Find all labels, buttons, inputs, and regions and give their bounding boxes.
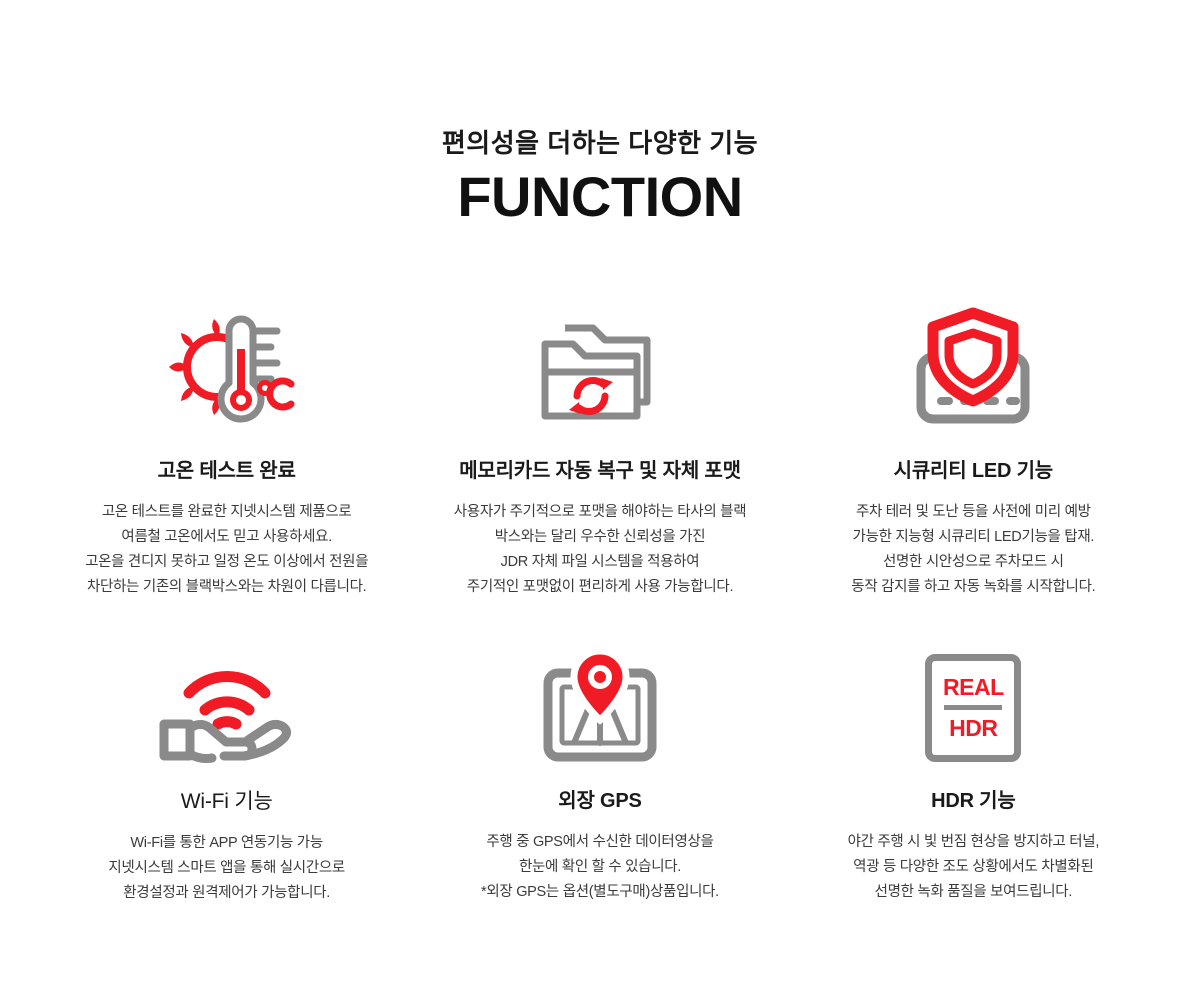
page-header: 편의성을 더하는 다양한 기능 FUNCTION <box>0 0 1200 230</box>
shield-led-icon <box>903 300 1043 440</box>
feature-card-hdr: REAL HDR HDR 기능 야간 주행 시 빛 번짐 현상을 방지하고 터널… <box>787 645 1160 965</box>
feature-title: HDR 기능 <box>931 788 1016 814</box>
function-feature-page: 편의성을 더하는 다양한 기능 FUNCTION <box>0 0 1200 997</box>
page-title: FUNCTION <box>0 165 1200 229</box>
feature-title: Wi-Fi 기능 <box>181 788 273 815</box>
hand-wifi-icon <box>152 645 302 770</box>
feature-description: Wi-Fi를 통한 APP 연동기능 가능 지넷시스템 스마트 앱을 통해 실시… <box>108 831 345 906</box>
feature-title: 고온 테스트 완료 <box>158 458 296 484</box>
feature-card-high-temp-test: 고온 테스트 완료 고온 테스트를 완료한 지넷시스템 제품으로 여름철 고온에… <box>40 300 413 645</box>
feature-description: 주행 중 GPS에서 수신한 데이터영상을 한눈에 확인 할 수 있습니다. *… <box>481 830 719 905</box>
real-hdr-icon: REAL HDR <box>925 645 1021 770</box>
page-subtitle: 편의성을 더하는 다양한 기능 <box>0 128 1200 159</box>
sun-thermometer-icon <box>157 300 297 440</box>
feature-description: 사용자가 주기적으로 포맷을 해야하는 타사의 블랙 박스와는 달리 우수한 신… <box>454 500 746 600</box>
feature-description: 야간 주행 시 빛 번짐 현상을 방지하고 터널, 역광 등 다양한 조도 상황… <box>848 830 1100 905</box>
feature-card-security-led: 시큐리티 LED 기능 주차 테러 및 도난 등을 사전에 미리 예방 가능한 … <box>787 300 1160 645</box>
folder-sync-icon <box>535 300 665 440</box>
map-pin-icon <box>530 645 670 770</box>
feature-title: 시큐리티 LED 기능 <box>894 458 1053 484</box>
feature-description: 주차 테러 및 도난 등을 사전에 미리 예방 가능한 지능형 시큐리티 LED… <box>851 500 1095 600</box>
feature-card-memory-format: 메모리카드 자동 복구 및 자체 포맷 사용자가 주기적으로 포맷을 해야하는 … <box>413 300 786 645</box>
hdr-badge-top-label: REAL <box>943 675 1004 699</box>
feature-grid: 고온 테스트 완료 고온 테스트를 완료한 지넷시스템 제품으로 여름철 고온에… <box>40 300 1160 965</box>
hdr-divider <box>944 705 1002 710</box>
hdr-badge: REAL HDR <box>925 654 1021 762</box>
feature-card-external-gps: 외장 GPS 주행 중 GPS에서 수신한 데이터영상을 한눈에 확인 할 수 … <box>413 645 786 965</box>
feature-title: 외장 GPS <box>558 788 641 814</box>
feature-title: 메모리카드 자동 복구 및 자체 포맷 <box>459 458 741 484</box>
feature-card-wifi: Wi-Fi 기능 Wi-Fi를 통한 APP 연동기능 가능 지넷시스템 스마트… <box>40 645 413 965</box>
feature-description: 고온 테스트를 완료한 지넷시스템 제품으로 여름철 고온에서도 믿고 사용하세… <box>85 500 368 600</box>
hdr-badge-bottom-label: HDR <box>949 716 997 740</box>
